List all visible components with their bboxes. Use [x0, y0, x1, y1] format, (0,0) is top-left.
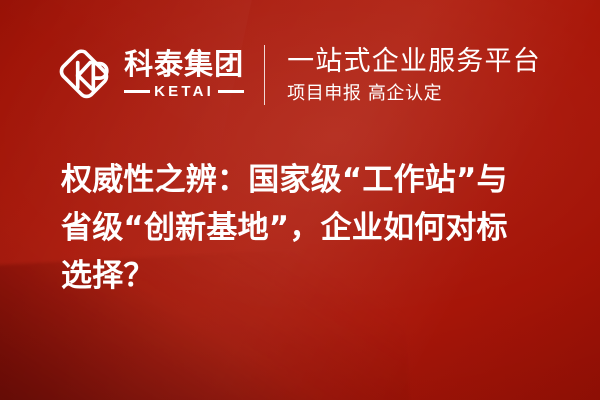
- wordmark-rule-right: [218, 90, 244, 93]
- company-name-en-row: KETAI: [124, 83, 244, 100]
- page-title-line-1: 权威性之辨：国家级“工作站”与: [61, 156, 560, 204]
- company-name-cn: 科泰集团: [124, 50, 244, 80]
- vertical-divider: [264, 45, 265, 105]
- tagline-group: 一站式企业服务平台 项目申报 高企认定: [287, 46, 541, 104]
- company-name-en: KETAI: [154, 83, 214, 100]
- wordmark: 科泰集团 KETAI: [124, 50, 244, 100]
- tagline-sub: 项目申报 高企认定: [287, 83, 541, 105]
- ketai-diamond-kp-logo-icon: [59, 49, 111, 101]
- page-title-line-2: 省级“创新基地”，企业如何对标: [61, 204, 560, 252]
- page-title: 权威性之辨：国家级“工作站”与 省级“创新基地”，企业如何对标 选择？: [61, 156, 560, 300]
- page-title-line-3: 选择？: [61, 252, 560, 300]
- brand-lockup[interactable]: 科泰集团 KETAI: [59, 49, 244, 101]
- tagline-main: 一站式企业服务平台: [287, 46, 541, 78]
- promo-banner: 科泰集团 KETAI 一站式企业服务平台 项目申报 高企认定 权威性之辨：国家级…: [0, 0, 600, 400]
- wordmark-rule-left: [124, 90, 150, 93]
- banner-content: 科泰集团 KETAI 一站式企业服务平台 项目申报 高企认定 权威性之辨：国家级…: [0, 0, 600, 400]
- banner-header: 科泰集团 KETAI 一站式企业服务平台 项目申报 高企认定: [0, 34, 600, 116]
